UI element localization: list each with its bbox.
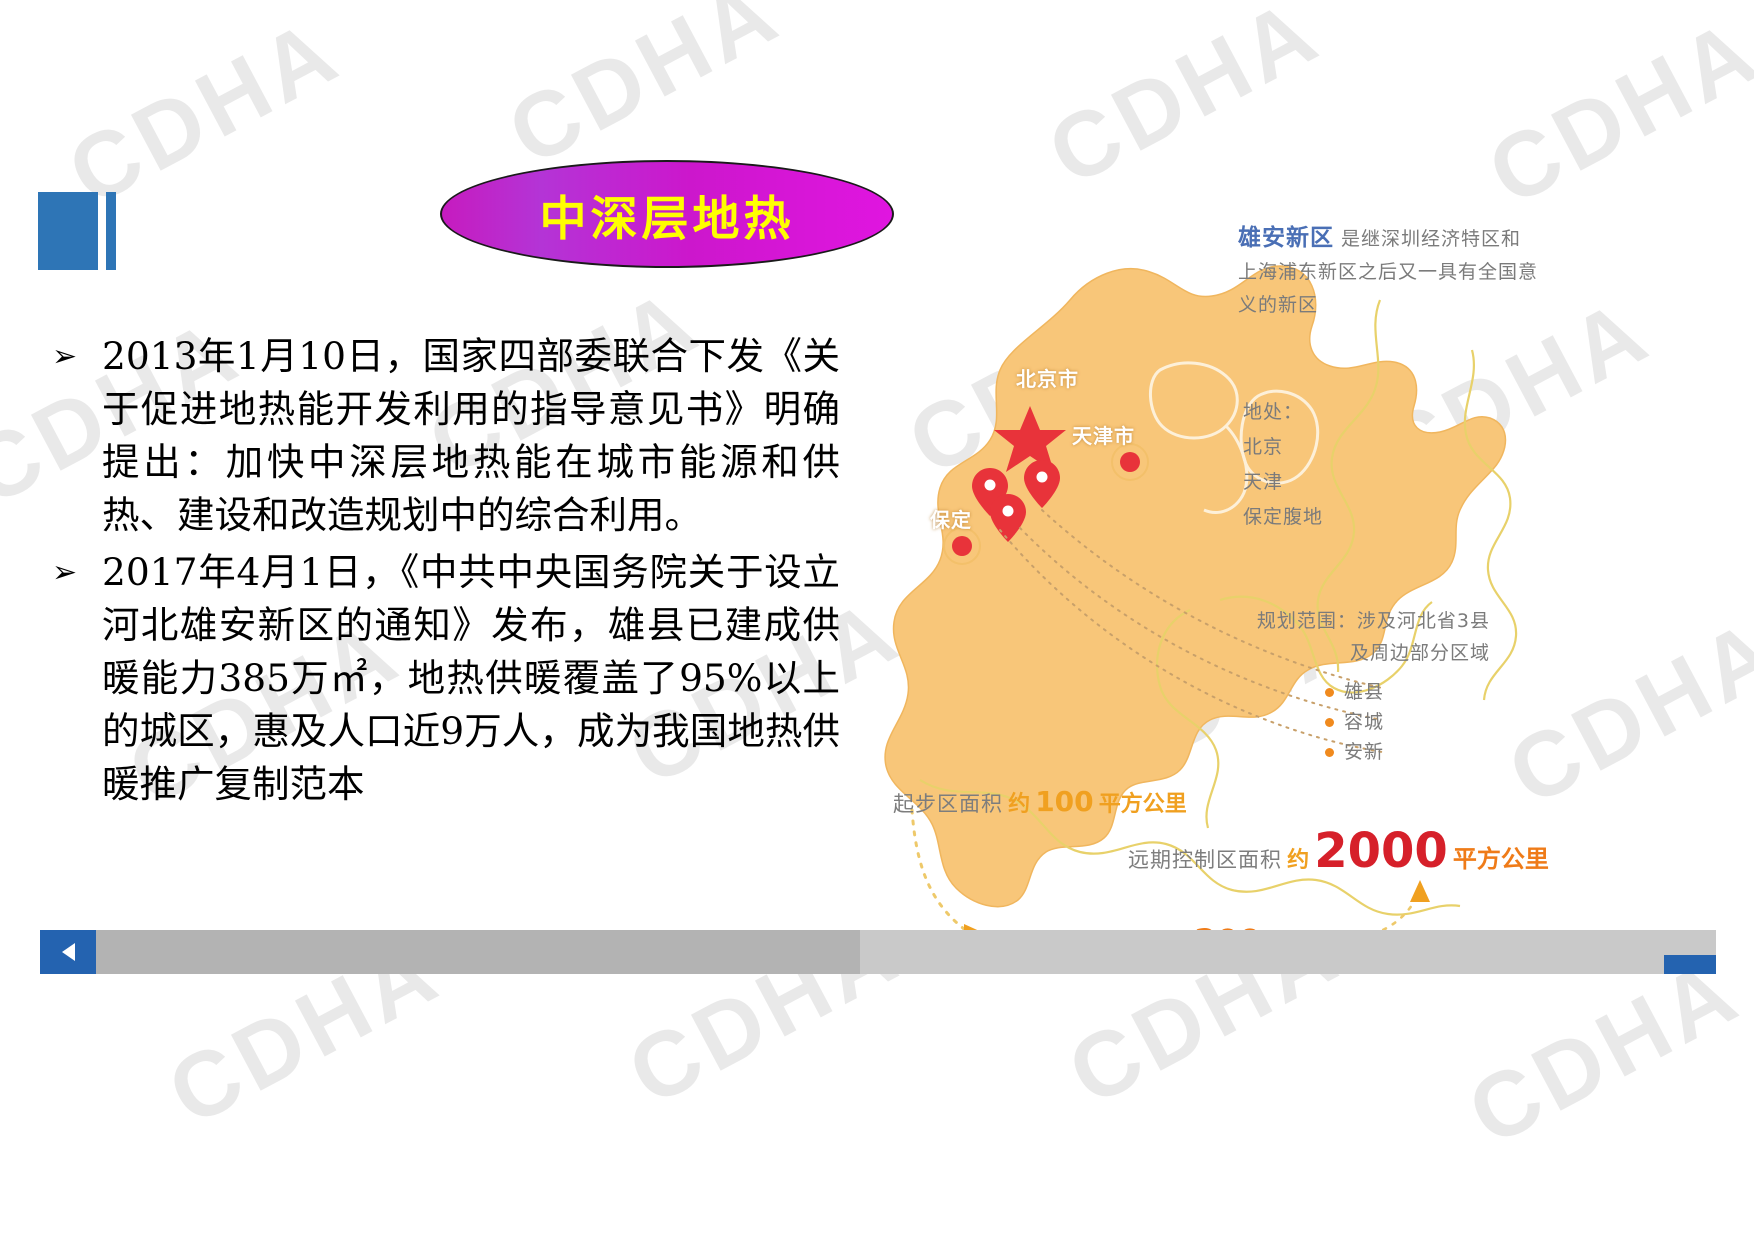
area-far-label: 远期控制区面积 bbox=[1128, 848, 1282, 872]
map-label-baoding: 保定 bbox=[930, 504, 972, 533]
area-start-label: 起步区面积 bbox=[893, 792, 1003, 816]
area-start-approx: 约 bbox=[1008, 792, 1030, 817]
progress-bar-fill bbox=[40, 930, 860, 974]
location-item: 天津 bbox=[1243, 465, 1493, 500]
location-item: 保定腹地 bbox=[1243, 500, 1493, 535]
area-callout-start-zone: 起步区面积 约 100 平方公里 bbox=[893, 785, 1187, 818]
scope-line-1: 规划范围：涉及河北省3县 bbox=[1180, 605, 1490, 637]
arrow-head-far bbox=[1410, 880, 1430, 902]
county-list: 雄县 容城 安新 bbox=[1180, 677, 1490, 767]
county-label: 雄县 bbox=[1344, 677, 1384, 707]
slide-title-badge: 中深层地热 bbox=[440, 160, 894, 268]
location-label: 地处： bbox=[1243, 395, 1493, 430]
planning-scope-block: 规划范围：涉及河北省3县 及周边部分区域 雄县 容城 安新 bbox=[1180, 605, 1490, 767]
area-far-value: 2000 bbox=[1314, 823, 1448, 879]
progress-bar[interactable] bbox=[40, 930, 1716, 974]
area-start-value: 100 bbox=[1035, 785, 1093, 818]
decorative-blue-bar bbox=[106, 192, 116, 270]
map-label-tianjin: 天津市 bbox=[1072, 420, 1135, 449]
bullet-arrow-icon: ➢ bbox=[40, 546, 102, 600]
watermark: CDHA bbox=[1032, 0, 1337, 207]
bullet-text: 2013年1月10日，国家四部委联合下发《关于促进地热能开发利用的指导意见书》明… bbox=[102, 330, 840, 542]
previous-slide-button[interactable] bbox=[40, 930, 96, 974]
bullet-dot-icon bbox=[1325, 688, 1334, 697]
bullet-dot-icon bbox=[1325, 718, 1334, 727]
bullet-dot-icon bbox=[1325, 748, 1334, 757]
page-title: 中深层地热 bbox=[540, 180, 795, 249]
xiongan-headline: 雄安新区 bbox=[1238, 225, 1334, 251]
area-far-unit: 平方公里 bbox=[1453, 845, 1549, 873]
county-label: 容城 bbox=[1344, 707, 1384, 737]
county-label: 安新 bbox=[1344, 737, 1384, 767]
area-start-unit: 平方公里 bbox=[1099, 792, 1187, 817]
decorative-blue-square bbox=[38, 192, 98, 270]
next-slide-button[interactable] bbox=[1664, 955, 1716, 974]
location-item: 北京 bbox=[1243, 430, 1493, 465]
list-item: ➢ 2013年1月10日，国家四部委联合下发《关于促进地热能开发利用的指导意见书… bbox=[40, 330, 840, 542]
scope-line-2: 及周边部分区域 bbox=[1180, 637, 1490, 669]
slide-canvas: CDHA CDHA CDHA CDHA CDHA CDHA CDHA CDHA … bbox=[0, 0, 1754, 1240]
bullet-list: ➢ 2013年1月10日，国家四部委联合下发《关于促进地热能开发利用的指导意见书… bbox=[40, 330, 840, 815]
triangle-left-icon bbox=[62, 943, 75, 961]
watermark: CDHA bbox=[492, 0, 797, 187]
map-label-beijing: 北京市 bbox=[1016, 363, 1079, 392]
area-far-approx: 约 bbox=[1287, 848, 1309, 873]
list-item: 容城 bbox=[1325, 707, 1490, 737]
list-item: ➢ 2017年4月1日，《中共中央国务院关于设立河北雄安新区的通知》发布，雄县已… bbox=[40, 546, 840, 811]
list-item: 安新 bbox=[1325, 737, 1490, 767]
list-item: 雄县 bbox=[1325, 677, 1490, 707]
xiongan-description-block: 雄安新区 是继深圳经济特区和上海浦东新区之后又一具有全国意义的新区 bbox=[1238, 222, 1538, 322]
bullet-text: 2017年4月1日，《中共中央国务院关于设立河北雄安新区的通知》发布，雄县已建成… bbox=[102, 546, 840, 811]
location-block: 地处： 北京 天津 保定腹地 bbox=[1243, 395, 1493, 535]
watermark: CDHA bbox=[52, 0, 357, 227]
bullet-arrow-icon: ➢ bbox=[40, 330, 102, 384]
area-callout-far-zone: 远期控制区面积 约 2000 平方公里 bbox=[1128, 823, 1549, 879]
